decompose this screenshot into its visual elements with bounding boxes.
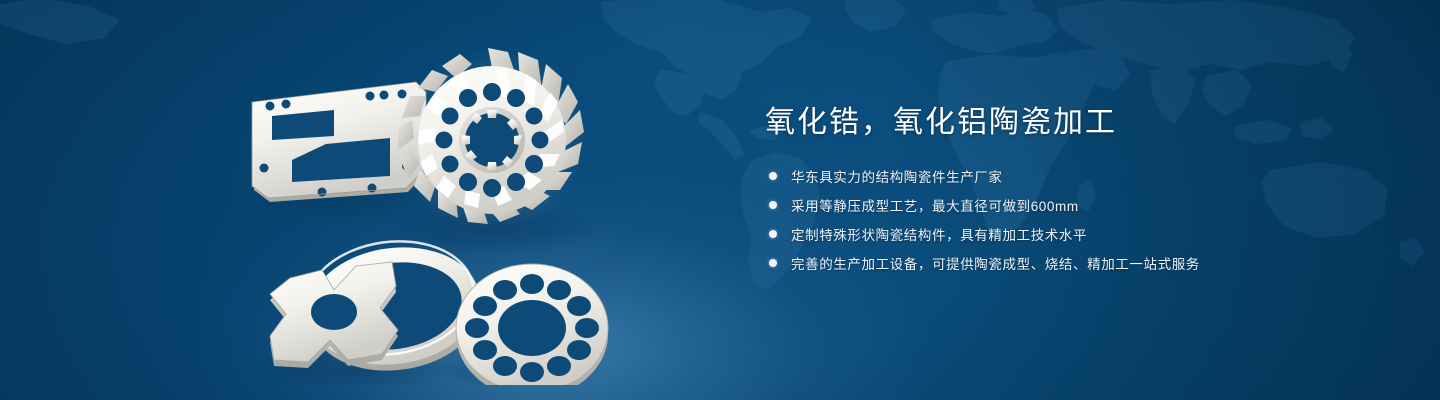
promo-banner: 氧化锆，氧化铝陶瓷加工 华东具实力的结构陶瓷件生产厂家 采用等静压成型工艺，最大… (0, 0, 1440, 400)
list-item: 完善的生产加工设备，可提供陶瓷成型、烧结、精加工一站式服务 (769, 252, 1365, 274)
list-item-label: 华东具实力的结构陶瓷件生产厂家 (791, 166, 1003, 186)
list-item-label: 采用等静压成型工艺，最大直径可做到600mm (791, 195, 1079, 215)
list-item: 定制特殊形状陶瓷结构件，具有精加工技术水平 (769, 223, 1365, 245)
bullet-dot-icon (769, 230, 777, 238)
ceramic-products-photo (230, 40, 700, 385)
list-item: 采用等静压成型工艺，最大直径可做到600mm (769, 194, 1365, 216)
banner-copy: 氧化锆，氧化铝陶瓷加工 华东具实力的结构陶瓷件生产厂家 采用等静压成型工艺，最大… (765, 104, 1365, 281)
page-title: 氧化锆，氧化铝陶瓷加工 (765, 104, 1365, 141)
feature-list: 华东具实力的结构陶瓷件生产厂家 采用等静压成型工艺，最大直径可做到600mm 定… (769, 165, 1365, 274)
list-item-label: 完善的生产加工设备，可提供陶瓷成型、烧结、精加工一站式服务 (791, 253, 1200, 273)
bullet-dot-icon (769, 201, 777, 209)
ceramic-impeller-vaned-disc (396, 48, 588, 232)
ceramic-perforated-ring-disc (456, 264, 608, 385)
list-item-label: 定制特殊形状陶瓷结构件，具有精加工技术水平 (791, 224, 1087, 244)
bullet-dot-icon (769, 259, 777, 267)
list-item: 华东具实力的结构陶瓷件生产厂家 (769, 165, 1365, 187)
bullet-dot-icon (769, 172, 777, 180)
